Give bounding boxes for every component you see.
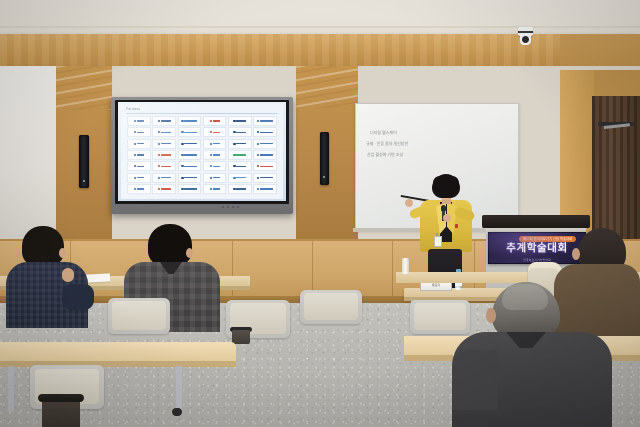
partner-logo-mark [158, 177, 171, 179]
partner-logo [203, 173, 227, 183]
partner-logo-wordmark [161, 166, 171, 167]
attendee-1-hand [62, 268, 74, 282]
partner-logo-symbol [257, 131, 259, 133]
partner-logo-mark [210, 165, 220, 167]
partner-logo [152, 184, 176, 194]
slide-divider [126, 113, 278, 114]
partner-logo-symbol [158, 177, 160, 179]
partner-logo-wordmark [236, 143, 246, 144]
partner-logo [253, 139, 277, 149]
partner-logo-mark [158, 143, 171, 145]
partner-logo-symbol [210, 120, 212, 122]
partner-logo-mark [134, 165, 144, 167]
partner-logo-wordmark [260, 166, 273, 167]
partner-logo [228, 127, 252, 137]
partner-logo-mark [257, 165, 273, 167]
partner-logo-wordmark [260, 143, 273, 144]
coffee-cup-dark-front-lid [38, 394, 84, 402]
partner-logo-wordmark [260, 188, 273, 189]
partner-logo-symbol [210, 177, 212, 179]
partner-logo-symbol [233, 188, 235, 190]
partner-logo-symbol [134, 120, 136, 122]
partner-logo-wordmark [236, 120, 246, 121]
partner-logo-wordmark [184, 177, 197, 178]
partner-logo-wordmark [260, 154, 273, 155]
partner-logo [203, 161, 227, 171]
partner-logo-mark [233, 143, 246, 145]
presenter-left-hand [405, 199, 413, 207]
partner-logo [228, 139, 252, 149]
slide-title: Partners [126, 107, 140, 111]
partner-logo [203, 150, 227, 160]
partner-logo [253, 173, 277, 183]
partner-logo-mark [210, 120, 220, 122]
partner-logo [203, 184, 227, 194]
display-menu-button[interactable] [227, 206, 229, 208]
attendee-3-shoulder [452, 350, 498, 410]
partner-logo [228, 116, 252, 126]
partner-logo-mark [158, 154, 171, 156]
partner-logo [127, 116, 151, 126]
partner-logo [253, 127, 277, 137]
presenter-right-hand [443, 214, 451, 222]
partner-logo-wordmark [137, 177, 144, 178]
partner-logo-symbol [158, 188, 160, 190]
partner-logo-mark [158, 120, 171, 122]
conference-room-photo: 디지털 헬스케어 규제 · 인증 절차 개선방안 산업 활성화 기반 조성 Pa… [0, 0, 640, 427]
partner-logo-wordmark [184, 120, 197, 121]
wood-pillar-center-texture [296, 66, 358, 108]
partner-logo-mark [181, 188, 197, 190]
attendee-1-ear [59, 248, 66, 258]
partner-logo [253, 150, 277, 160]
partner-logo [228, 161, 252, 171]
partner-logo-mark [257, 120, 273, 122]
ceiling-seam [0, 26, 640, 28]
partner-logo-wordmark [213, 166, 220, 167]
partner-logo-symbol [134, 143, 136, 145]
partner-logo-mark [134, 131, 144, 133]
partner-logo-symbol [134, 154, 136, 156]
partner-logo-wordmark [236, 132, 246, 133]
partner-logo-wordmark [137, 188, 144, 189]
partner-logo [228, 184, 252, 194]
partner-logo-mark [134, 188, 144, 190]
chair-back-pad [112, 301, 166, 330]
wood-pillar-left-texture [56, 66, 112, 110]
partner-logo-mark [181, 120, 197, 122]
partner-logo-symbol [233, 131, 235, 133]
partner-logo-mark [181, 177, 197, 179]
partner-logo-symbol [158, 154, 160, 156]
partner-logo-symbol [134, 131, 136, 133]
partner-logo [203, 127, 227, 137]
display-power-button[interactable] [222, 206, 224, 208]
partner-logo [228, 173, 252, 183]
attendee-3-ear [486, 308, 496, 323]
partner-logo-wordmark [161, 120, 171, 121]
partner-logo [203, 116, 227, 126]
partner-logo [127, 184, 151, 194]
desk-leg [8, 366, 14, 412]
partner-logo-wordmark [213, 132, 220, 133]
partner-logo-mark [134, 143, 144, 145]
attendee-1-arm [62, 284, 94, 310]
partner-logo-symbol [210, 143, 212, 145]
partner-logo-wordmark [137, 154, 144, 155]
partner-logo [178, 127, 202, 137]
partner-logo-wordmark [137, 166, 144, 167]
partner-logo-mark [158, 131, 171, 133]
partner-logo [178, 116, 202, 126]
partner-logo-symbol [210, 154, 212, 156]
partner-logo [228, 150, 252, 160]
partner-logo-mark [181, 143, 197, 145]
partner-logo [178, 150, 202, 160]
partner-logo-wordmark [213, 120, 220, 121]
partner-logo [178, 184, 202, 194]
partner-logo [203, 139, 227, 149]
whiteboard-line-3: 산업 활성화 기반 조성 [367, 152, 403, 157]
partner-logo [253, 184, 277, 194]
partner-logo-mark [257, 131, 273, 133]
partner-logo [178, 139, 202, 149]
partner-logo-wordmark [260, 120, 273, 121]
partner-logo [127, 139, 151, 149]
partner-logo-mark [158, 165, 171, 167]
attendee-3-hair [502, 284, 548, 310]
partner-logo-symbol [257, 154, 259, 156]
partner-logo [127, 161, 151, 171]
partner-logo-symbol [134, 188, 136, 190]
partner-logo-symbol [233, 165, 235, 167]
partner-logo-symbol [257, 120, 259, 122]
partner-logo-wordmark [137, 120, 144, 121]
partner-logo-mark [210, 177, 220, 179]
partner-logo-symbol [233, 120, 235, 122]
partner-logo-mark [257, 154, 273, 156]
partner-logo-mark [257, 177, 273, 179]
partner-logo-wordmark [161, 188, 171, 189]
partner-logo-symbol [181, 143, 183, 145]
partner-logo-mark [158, 188, 171, 190]
banner-glow [488, 232, 584, 262]
partner-logo [127, 127, 151, 137]
partner-logo [253, 161, 277, 171]
partner-logo-wordmark [184, 188, 197, 189]
partner-logo-wordmark [260, 177, 273, 178]
partner-logo [152, 116, 176, 126]
partner-logo-symbol [233, 143, 235, 145]
partner-logo [178, 161, 202, 171]
partner-logo [127, 173, 151, 183]
partner-logo-wordmark [161, 177, 171, 178]
partner-logo-symbol [257, 188, 259, 190]
partner-logo-mark [233, 188, 246, 190]
partner-logo [178, 173, 202, 183]
partner-logo-symbol [233, 177, 235, 179]
partner-logo-wordmark [184, 154, 197, 155]
partner-logo-wordmark [236, 154, 246, 155]
whiteboard-line-1: 디지털 헬스케어 [370, 130, 397, 135]
partner-logo-symbol [181, 177, 183, 179]
partner-logo-mark [134, 154, 144, 156]
partner-logo-symbol [257, 177, 259, 179]
partner-logo-wordmark [161, 143, 171, 144]
partner-logo-symbol [158, 143, 160, 145]
partner-logo-wordmark [161, 154, 171, 155]
presentation-slide: Partners [121, 104, 283, 199]
camera-lens-icon [522, 36, 529, 43]
speaker-led-icon-right [323, 176, 325, 178]
partner-logo-mark [210, 131, 220, 133]
partner-logo-wordmark [236, 166, 246, 167]
attendee-2-ear [186, 248, 193, 258]
partner-logo-symbol [210, 188, 212, 190]
partner-logo [253, 116, 277, 126]
cabinet-seam [392, 241, 393, 303]
water-bottle-back [402, 258, 409, 274]
partner-logo-wordmark [260, 132, 273, 133]
partner-logo-symbol [257, 165, 259, 167]
partner-logo-mark [233, 131, 246, 133]
display-input-button[interactable] [232, 206, 234, 208]
partner-logo [152, 161, 176, 171]
partner-logo-mark [257, 143, 273, 145]
presenter-lapel-pin [455, 224, 458, 228]
partner-logo-mark [233, 165, 246, 167]
partner-logo-wordmark [184, 132, 197, 133]
chair-back-pad [304, 293, 358, 320]
partner-logo-mark [134, 177, 144, 179]
partner-logo-wordmark [213, 188, 220, 189]
partner-logo-symbol [181, 154, 183, 156]
partner-logo-symbol [134, 165, 136, 167]
attendee-1-head [22, 226, 64, 266]
partner-logo-symbol [257, 143, 259, 145]
partner-logo-wordmark [236, 177, 246, 178]
partner-logo-symbol [181, 188, 183, 190]
coffee-cup-dark-mid [232, 330, 250, 344]
partner-logo-mark [210, 143, 220, 145]
partner-logo [152, 127, 176, 137]
wall-panel-left [0, 66, 58, 241]
chair-back-pad [414, 303, 466, 330]
partner-logo-symbol [158, 165, 160, 167]
whiteboard-line-2: 규제 · 인증 절차 개선방안 [366, 141, 408, 146]
coffee-cup-dark-front [42, 398, 80, 427]
partner-logo-mark [257, 188, 273, 190]
ceiling-beam-grain [0, 34, 640, 68]
partner-logo-wordmark [184, 143, 197, 144]
notepad [86, 273, 110, 282]
partner-logo-mark [181, 165, 197, 167]
partner-logo-grid [127, 116, 277, 194]
attendee-4-ear [572, 248, 580, 260]
presenter-hair-fringe [433, 176, 459, 185]
partner-logo [127, 150, 151, 160]
partner-logo-mark [233, 154, 246, 156]
partner-logo-wordmark [184, 166, 197, 167]
partner-logo-symbol [134, 177, 136, 179]
partner-logo-symbol [181, 131, 183, 133]
speaker-led-icon-left [83, 180, 85, 182]
partner-logo-wordmark [161, 132, 171, 133]
presenter-name-badge [434, 236, 442, 247]
partner-logo-mark [181, 154, 197, 156]
partner-logo-mark [210, 154, 220, 156]
partner-logo-wordmark [137, 143, 144, 144]
partner-logo [152, 139, 176, 149]
partner-logo-wordmark [236, 188, 246, 189]
lectern-top [482, 215, 590, 228]
partner-logo [152, 150, 176, 160]
partner-logo [152, 173, 176, 183]
partner-logo-symbol [181, 120, 183, 122]
partner-logo-symbol [210, 131, 212, 133]
partner-logo-wordmark [137, 132, 144, 133]
cabinet-seam [232, 241, 233, 303]
attendee-4-body [554, 264, 640, 340]
partner-logo-mark [210, 188, 220, 190]
partner-logo-symbol [158, 120, 160, 122]
partner-logo-wordmark [213, 177, 220, 178]
partner-logo-wordmark [213, 154, 220, 155]
partner-logo-mark [233, 120, 246, 122]
desk-leg [176, 366, 182, 414]
partner-logo-symbol [233, 154, 235, 156]
name-plate-text: 발표자 [421, 283, 451, 287]
partner-logo-mark [233, 177, 246, 179]
attendee-2-head [148, 224, 192, 266]
desk-caster [172, 408, 182, 416]
partner-logo-symbol [210, 165, 212, 167]
partner-logo-symbol [181, 165, 183, 167]
partner-logo-mark [134, 120, 144, 122]
partner-logo-symbol [158, 131, 160, 133]
partner-logo-wordmark [213, 143, 220, 144]
display-volume-button[interactable] [237, 206, 239, 208]
partner-logo-mark [181, 131, 197, 133]
